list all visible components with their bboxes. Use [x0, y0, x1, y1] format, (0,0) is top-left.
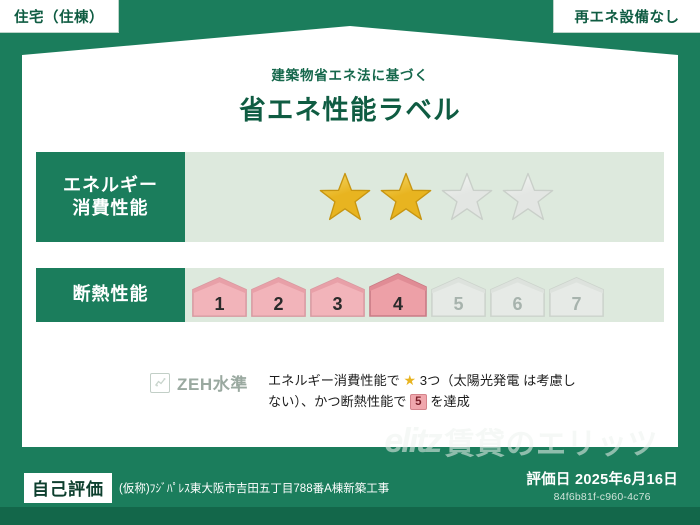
desc-line2-after-badge: を達成 — [430, 394, 470, 409]
footer-left: 自己評価 (仮称)ﾌｼﾞﾊﾟﾚｽ東大阪市吉田五丁目788番A棟新築工事 — [24, 473, 389, 503]
desc-line1-after-star: 3つ（太陽光発電 — [420, 373, 520, 388]
insulation-label-text: 断熱性能 — [73, 283, 149, 306]
insulation-performance-body: 1234567 — [185, 268, 664, 322]
energy-label-line1: エネルギー — [63, 174, 158, 197]
achievement-description: エネルギー消費性能で ★ 3つ（太陽光発電 は考慮しない）、かつ断熱性能で 5 … — [268, 369, 580, 413]
self-evaluation-badge: 自己評価 — [24, 473, 112, 503]
insulation-grade-3-achieved: 3 — [309, 276, 366, 318]
tag-renewable-energy: 再エネ設備なし — [553, 0, 700, 33]
insulation-performance-row: 断熱性能 1234567 — [36, 268, 664, 322]
insulation-grade-2-achieved: 2 — [250, 276, 307, 318]
insulation-grade-7-unachieved: 7 — [548, 276, 605, 318]
energy-performance-label: エネルギー 消費性能 — [36, 152, 185, 242]
inline-star-icon: ★ — [404, 372, 417, 388]
insulation-grade-number: 2 — [250, 294, 307, 315]
star-rating — [317, 169, 556, 225]
energy-performance-body — [185, 152, 664, 242]
insulation-grade-number: 7 — [548, 294, 605, 315]
evaluation-date: 評価日 2025年6月16日 — [526, 468, 678, 489]
star-4-empty — [500, 169, 556, 225]
insulation-grade-4-achieved: 4 — [368, 272, 428, 318]
page-title: 省エネ性能ラベル — [0, 88, 700, 127]
energy-performance-label: 住宅（住棟） 再エネ設備なし 建築物省エネ法に基づく 省エネ性能ラベル エネルギ… — [0, 0, 700, 525]
zeh-standard-label: ZEH水準 — [177, 370, 248, 395]
insulation-grade-number: 6 — [489, 294, 546, 315]
energy-label-line2: 消費性能 — [73, 197, 149, 220]
insulation-grade-badge: 5 — [410, 394, 426, 410]
desc-line1-before-star: エネルギー消費性能で — [268, 373, 400, 388]
tag-building-type: 住宅（住棟） — [0, 0, 119, 33]
insulation-grade-6-unachieved: 6 — [489, 276, 546, 318]
title-block: 建築物省エネ法に基づく 省エネ性能ラベル — [0, 64, 700, 127]
star-1-filled — [317, 169, 373, 225]
footer-strip — [0, 507, 700, 525]
insulation-performance-label: 断熱性能 — [36, 268, 185, 322]
insulation-grade-scale: 1234567 — [191, 272, 605, 318]
star-3-empty — [439, 169, 495, 225]
title-subtitle: 建築物省エネ法に基づく — [0, 64, 700, 84]
insulation-grade-number: 5 — [430, 294, 487, 315]
footer-right: 評価日 2025年6月16日 84f6b81f-c960-4c76 — [526, 468, 678, 503]
tag-renewable-energy-text: 再エネ設備なし — [575, 6, 680, 27]
insulation-grade-number: 3 — [309, 294, 366, 315]
insulation-grade-1-achieved: 1 — [191, 276, 248, 318]
zeh-checkbox-icon — [150, 373, 170, 393]
insulation-grade-number: 1 — [191, 294, 248, 315]
insulation-grade-5-unachieved: 5 — [430, 276, 487, 318]
project-name: (仮称)ﾌｼﾞﾊﾟﾚｽ東大阪市吉田五丁目788番A棟新築工事 — [119, 480, 389, 496]
energy-performance-row: エネルギー 消費性能 — [36, 152, 664, 242]
label-id: 84f6b81f-c960-4c76 — [526, 491, 678, 503]
insulation-grade-number: 4 — [368, 294, 428, 315]
zeh-standard-badge: ZEH水準 — [150, 370, 248, 395]
star-2-filled — [378, 169, 434, 225]
tag-building-type-text: 住宅（住棟） — [14, 6, 104, 27]
